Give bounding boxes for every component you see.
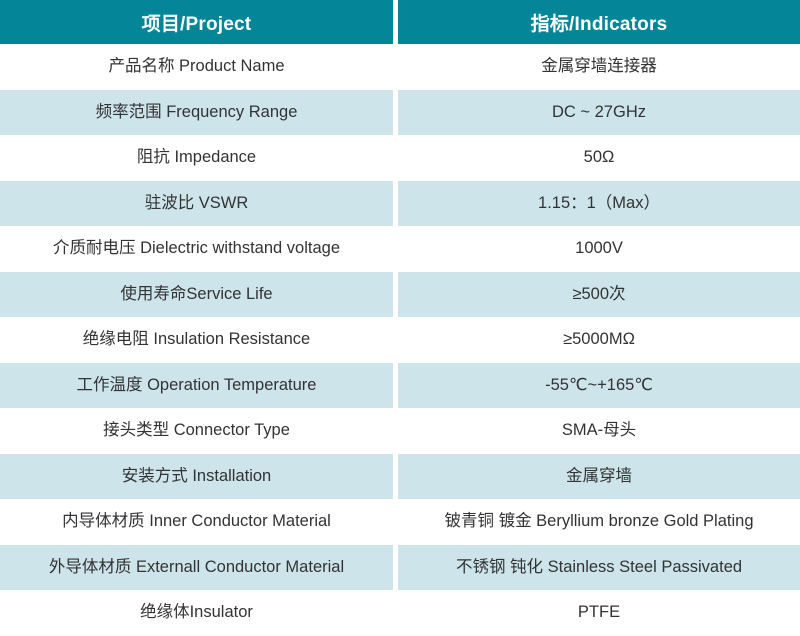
table-row: 驻波比 VSWR1.15：1（Max）: [0, 181, 800, 227]
cell-indicator: ≥5000MΩ: [398, 317, 800, 363]
table-row: 安装方式 Installation金属穿墙: [0, 454, 800, 500]
header-project: 项目/Project: [0, 0, 393, 44]
specification-table: 项目/Project 指标/Indicators 产品名称 Product Na…: [0, 0, 800, 636]
cell-indicator: ≥500次: [398, 272, 800, 318]
table-row: 频率范围 Frequency RangeDC ~ 27GHz: [0, 90, 800, 136]
cell-project: 安装方式 Installation: [0, 454, 393, 500]
cell-project: 介质耐电压 Dielectric withstand voltage: [0, 226, 393, 272]
cell-indicator: SMA-母头: [398, 408, 800, 454]
header-indicators: 指标/Indicators: [398, 0, 800, 44]
table-row: 绝缘体InsulatorPTFE: [0, 590, 800, 636]
cell-project: 接头类型 Connector Type: [0, 408, 393, 454]
table-row: 绝缘电阻 Insulation Resistance≥5000MΩ: [0, 317, 800, 363]
table-row: 内导体材质 Inner Conductor Material铍青铜 镀金 Ber…: [0, 499, 800, 545]
table-row: 接头类型 Connector TypeSMA-母头: [0, 408, 800, 454]
table-row: 介质耐电压 Dielectric withstand voltage1000V: [0, 226, 800, 272]
cell-indicator: 金属穿墙: [398, 454, 800, 500]
table-row: 阻抗 Impedance50Ω: [0, 135, 800, 181]
table-header-row: 项目/Project 指标/Indicators: [0, 0, 800, 44]
cell-indicator: 1000V: [398, 226, 800, 272]
cell-project: 驻波比 VSWR: [0, 181, 393, 227]
table-row: 使用寿命Service Life≥500次: [0, 272, 800, 318]
cell-indicator: 不锈钢 钝化 Stainless Steel Passivated: [398, 545, 800, 591]
table-row: 工作温度 Operation Temperature-55℃~+165℃: [0, 363, 800, 409]
cell-indicator: 1.15：1（Max）: [398, 181, 800, 227]
cell-project: 工作温度 Operation Temperature: [0, 363, 393, 409]
cell-project: 外导体材质 Externall Conductor Material: [0, 545, 393, 591]
cell-indicator: -55℃~+165℃: [398, 363, 800, 409]
table-body: 产品名称 Product Name金属穿墙连接器频率范围 Frequency R…: [0, 44, 800, 636]
cell-project: 内导体材质 Inner Conductor Material: [0, 499, 393, 545]
cell-indicator: PTFE: [398, 590, 800, 636]
cell-project: 绝缘体Insulator: [0, 590, 393, 636]
table-row: 外导体材质 Externall Conductor Material不锈钢 钝化…: [0, 545, 800, 591]
cell-indicator: DC ~ 27GHz: [398, 90, 800, 136]
cell-project: 频率范围 Frequency Range: [0, 90, 393, 136]
cell-indicator: 铍青铜 镀金 Beryllium bronze Gold Plating: [398, 499, 800, 545]
cell-project: 绝缘电阻 Insulation Resistance: [0, 317, 393, 363]
cell-indicator: 50Ω: [398, 135, 800, 181]
cell-project: 使用寿命Service Life: [0, 272, 393, 318]
cell-indicator: 金属穿墙连接器: [398, 44, 800, 90]
cell-project: 阻抗 Impedance: [0, 135, 393, 181]
cell-project: 产品名称 Product Name: [0, 44, 393, 90]
table-row: 产品名称 Product Name金属穿墙连接器: [0, 44, 800, 90]
